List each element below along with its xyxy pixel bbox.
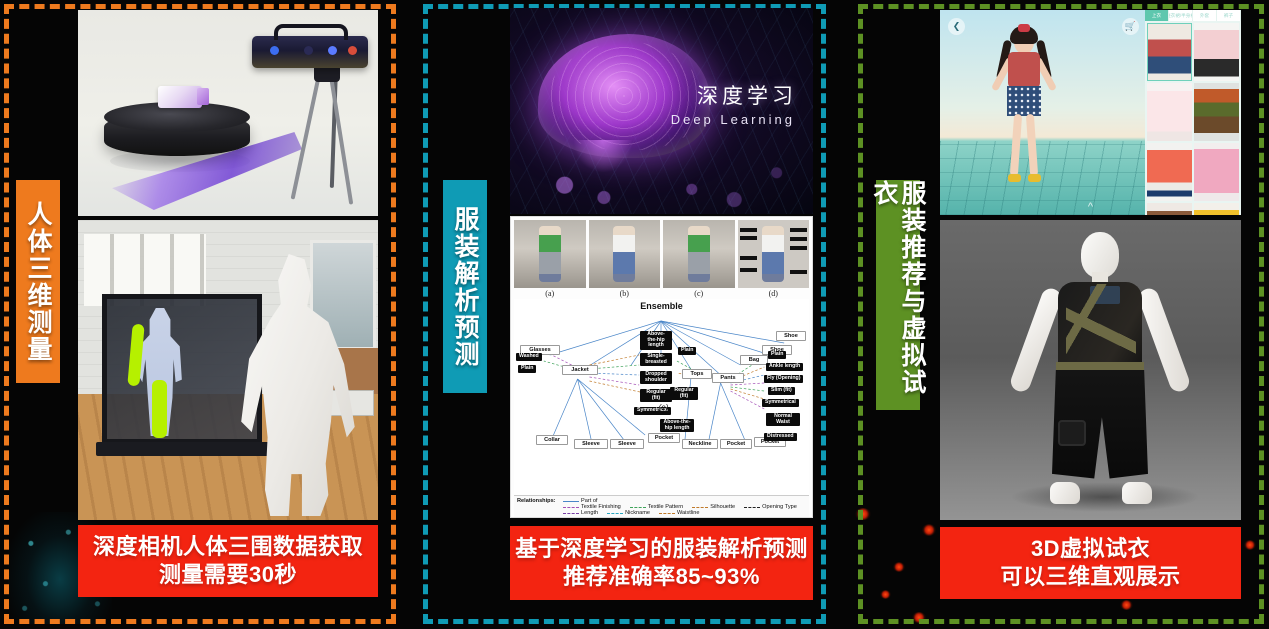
graph-node-pocket: Pocket: [720, 439, 752, 449]
media-column-panel-3: ❮ 🛒 ^ 上衣 连衣裙/半身裙 外套 裤子: [940, 10, 1241, 520]
graph-node-shoe: Shoe: [776, 331, 806, 341]
diagram-legend: Relationships: Part of Textile Finishing…: [514, 495, 809, 518]
camera-handle: [274, 24, 348, 40]
graph-node-neckline: Neckline: [682, 439, 718, 449]
sidebar-item-virtual-fitting[interactable]: 服装推荐与虚拟试衣: [876, 180, 920, 410]
screen-stand: [96, 442, 272, 456]
deep-learning-brain-banner: 深度学习 Deep Learning: [510, 8, 813, 214]
avatar-shoe: [1028, 174, 1041, 182]
attr-fly-opening: Fly (Opening): [764, 375, 803, 383]
graph-node-bag: Bag: [740, 355, 768, 365]
clothing-parsing-diagram: (a) (b) (c) (d): [510, 216, 813, 518]
tab-pants[interactable]: 裤子: [1217, 10, 1241, 21]
garment-thumbnail[interactable]: [1194, 143, 1239, 201]
attr-single-breasted: Single-breasted: [640, 353, 672, 366]
graph-node-jacket: Jacket: [562, 365, 598, 375]
category-tab-bar[interactable]: 上衣 连衣裙/半身裙 外套 裤子: [1145, 10, 1241, 21]
shopping-bag-icon[interactable]: 🛒: [1122, 18, 1139, 35]
attr-washed: Washed: [516, 353, 542, 361]
garment-thumbnail[interactable]: [1147, 83, 1192, 141]
garment-thumbnail[interactable]: [1147, 23, 1192, 81]
sample-image-b: [589, 220, 661, 288]
attr-ankle-length: Ankle length: [766, 363, 803, 371]
garment-thumbnail[interactable]: [1147, 203, 1192, 215]
virtual-fitting-app-screenshot: ❮ 🛒 ^ 上衣 连衣裙/半身裙 外套 裤子: [940, 10, 1241, 215]
legend-title: Relationships:: [517, 498, 559, 504]
mannequin-shadow: [1010, 482, 1200, 512]
banner-title-en: Deep Learning: [671, 112, 795, 127]
sidebar-item-label: 服装解析预测: [451, 206, 479, 368]
sample-captions: (a) (b) (c) (d): [511, 288, 812, 298]
attr-distressed: Distressed: [764, 433, 797, 441]
attr-regular-fit-2: Regular (fit): [670, 387, 698, 400]
graph-node-sleeve: Sleeve: [610, 439, 644, 449]
3d-dressed-mannequin-render: [940, 220, 1241, 520]
caption-c: (c): [663, 289, 735, 298]
garment-cargo-pocket: [1058, 420, 1086, 446]
attr-plain: Plain: [518, 365, 536, 373]
attribute-graph: Ensemble Glasses Jacket Tops Pants Bag S…: [514, 299, 809, 495]
graph-node-tops: Tops: [682, 369, 712, 379]
sample-image-a: [514, 220, 586, 288]
caption-d: (d): [738, 289, 810, 298]
sample-image-strip: [511, 217, 812, 288]
brain-stem: [574, 140, 632, 172]
legend-item: Waistline: [659, 510, 699, 516]
panel-3-caption: 3D虚拟试衣 可以三维直观展示: [940, 527, 1241, 599]
graph-node-pocket: Pocket: [648, 433, 680, 443]
attr-regular-fit: Regular (fit): [640, 389, 672, 402]
sidebar-item-label: 人体三维测量: [24, 201, 52, 363]
caption-line-2: 推荐准确率85~93%: [563, 563, 760, 591]
attr-above-hip-length-2: Above-the-hip length: [660, 419, 694, 432]
avatar-skirt: [1007, 86, 1041, 116]
chevron-left-icon[interactable]: ❮: [948, 18, 965, 35]
attr-normal-waist: Normal Waist: [766, 413, 800, 426]
caption-line-1: 基于深度学习的服装解析预测: [515, 535, 808, 563]
garment-thumbnail[interactable]: [1194, 83, 1239, 141]
graph-node-sleeve: Sleeve: [574, 439, 608, 449]
mannequin-foot: [1122, 482, 1152, 504]
chevron-up-icon[interactable]: ^: [1088, 201, 1093, 213]
graph-node-collar: Collar: [536, 435, 568, 445]
attr-above-hip-length: Above-the-hip length: [640, 331, 672, 350]
scan-result-screen: [102, 294, 262, 444]
caption-line-2: 可以三维直观展示: [1000, 563, 1180, 591]
mannequin-arm: [1008, 286, 1064, 394]
legend-item: Length: [563, 510, 598, 516]
garment-thumbnail[interactable]: [1147, 143, 1192, 201]
caption-a: (a): [514, 289, 586, 298]
graph-root-label: Ensemble: [640, 301, 683, 311]
tab-tops[interactable]: 上衣: [1145, 10, 1169, 21]
avatar-leg: [1026, 114, 1038, 176]
panel-1-caption: 深度相机人体三围数据获取 测量需要30秒: [78, 525, 378, 597]
mannequin-foot: [1050, 482, 1080, 504]
garment-thumbnail[interactable]: [1194, 23, 1239, 81]
avatar-tshirt: [1008, 52, 1040, 88]
tab-coat[interactable]: 外套: [1193, 10, 1217, 21]
mannequin-arm: [1136, 286, 1192, 394]
attr-plain-2: Plain: [678, 347, 696, 355]
depth-scanner-turntable-photo: [78, 10, 378, 216]
poster-stage: 人体三维测量: [0, 0, 1269, 629]
attr-slim-fit: Slim (fit): [768, 387, 795, 395]
sidebar-item-body-3d-measure[interactable]: 人体三维测量: [16, 180, 60, 383]
attr-dropped-shoulder: Dropped shoulder: [640, 371, 672, 384]
avatar-leg: [1010, 114, 1022, 176]
scanned-object: [158, 86, 202, 108]
panel-2-caption: 基于深度学习的服装解析预测 推荐准确率85~93%: [510, 526, 813, 600]
sample-image-c: [663, 220, 735, 288]
graph-node-pants: Pants: [712, 373, 744, 383]
media-column-panel-2: 深度学习 Deep Learning (a) (b) (c): [510, 8, 813, 518]
attr-plain-3: Plain: [768, 351, 786, 359]
caption-b: (b): [589, 289, 661, 298]
sidebar-item-label: 服装推荐与虚拟试衣: [870, 180, 926, 410]
caption-line-1: 3D虚拟试衣: [1031, 535, 1150, 563]
garment-straps: [1066, 284, 1136, 370]
caption-line-1: 深度相机人体三围数据获取: [93, 533, 363, 561]
attr-symmetrical-2: Symmetrical: [762, 399, 799, 407]
garment-thumbnail-grid[interactable]: [1145, 21, 1241, 215]
body-scan-display-photo: [78, 220, 378, 520]
caption-e: (e): [659, 403, 669, 412]
tab-dress-skirt[interactable]: 连衣裙/半身裙: [1169, 10, 1193, 21]
virtual-avatar: [992, 26, 1056, 186]
legend-item: Opening Type: [744, 504, 797, 510]
caption-line-2: 测量需要30秒: [159, 561, 297, 589]
sample-image-d: [738, 220, 810, 288]
media-column-panel-1: [78, 10, 378, 520]
highlighted-leg-segment: [152, 380, 167, 438]
legend-item: Nickname: [607, 510, 650, 516]
depth-camera-device: [252, 36, 368, 68]
sidebar-item-clothing-parsing[interactable]: 服装解析预测: [443, 180, 487, 393]
banner-title-cn: 深度学习: [697, 80, 797, 110]
garment-thumbnail[interactable]: [1194, 203, 1239, 215]
avatar-shoe: [1008, 174, 1021, 182]
hair-bow: [1018, 24, 1030, 32]
